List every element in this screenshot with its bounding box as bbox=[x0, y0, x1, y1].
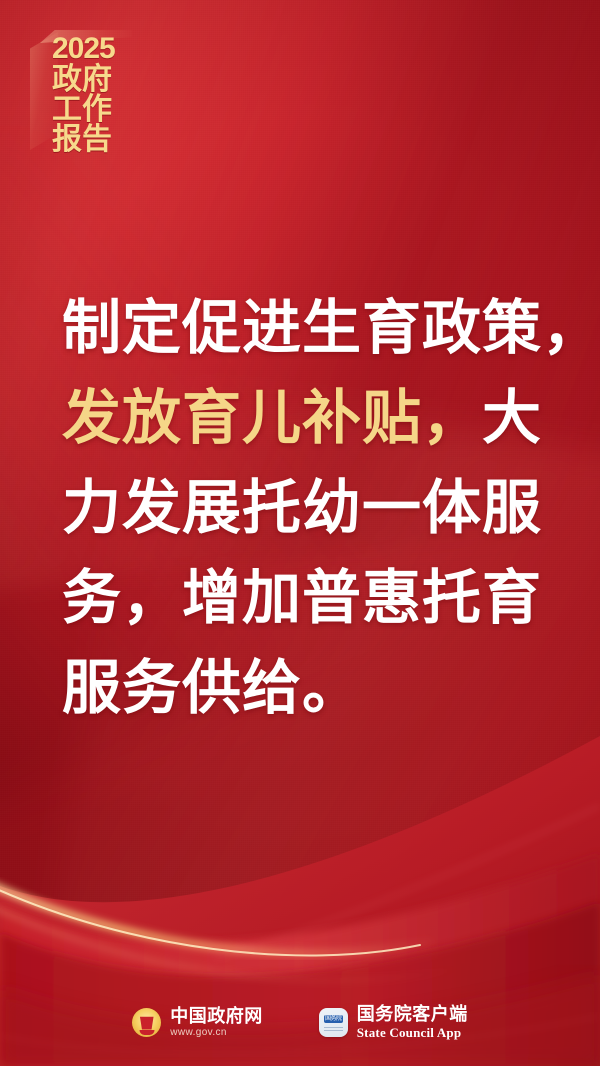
brand-gov-cn-url: www.gov.cn bbox=[170, 1028, 263, 1039]
brand-gov-cn-text: 中国政府网 www.gov.cn bbox=[170, 1007, 263, 1039]
brand-gov-cn-name: 中国政府网 bbox=[170, 1007, 263, 1026]
app-icon-label: 国务院 bbox=[324, 1015, 343, 1023]
logo-title-cn: 政府 工作 报告 bbox=[52, 65, 142, 155]
logo-title-line-2: 工作 bbox=[52, 95, 142, 125]
brand-state-council-sub: State Council App bbox=[357, 1026, 468, 1040]
logo-year: 2025 bbox=[52, 34, 142, 64]
headline-line-5: 服务供给。 bbox=[62, 643, 562, 733]
logo-title-line-1: 政府 bbox=[52, 65, 142, 95]
logo-text-group: 2025 政府 工作 报告 bbox=[52, 34, 142, 155]
headline-line-2: 发放育儿补贴，大 bbox=[62, 373, 562, 463]
brand-state-council-name: 国务院客户端 bbox=[357, 1005, 468, 1024]
report-logo: 2025 政府 工作 报告 bbox=[30, 26, 142, 158]
app-icon-lines bbox=[324, 1025, 343, 1031]
brand-state-council-app[interactable]: 国务院 国务院客户端 State Council App bbox=[319, 1005, 468, 1040]
headline-block: 制定促进生育政策， 发放育儿补贴，大 力发展托幼一体服 务，增加普惠托育 服务供… bbox=[62, 283, 562, 733]
headline-line-1: 制定促进生育政策， bbox=[62, 283, 562, 373]
logo-title-line-3: 报告 bbox=[52, 125, 142, 155]
footer-brands: 中国政府网 www.gov.cn 国务院 国务院客户端 State Counci… bbox=[0, 1005, 600, 1040]
headline-line-4: 务，增加普惠托育 bbox=[62, 553, 562, 643]
brand-gov-cn[interactable]: 中国政府网 www.gov.cn bbox=[132, 1007, 263, 1039]
brand-state-council-text: 国务院客户端 State Council App bbox=[357, 1005, 468, 1040]
headline-highlight: 发放育儿补贴， bbox=[62, 385, 482, 451]
poster-root: 2025 政府 工作 报告 制定促进生育政策， 发放育儿补贴，大 力发展托幼一体… bbox=[0, 0, 600, 1066]
national-emblem-icon bbox=[132, 1008, 161, 1037]
headline-line-3: 力发展托幼一体服 bbox=[62, 463, 562, 553]
headline-line-2-tail: 大 bbox=[482, 385, 542, 451]
state-council-app-icon: 国务院 bbox=[319, 1008, 348, 1037]
